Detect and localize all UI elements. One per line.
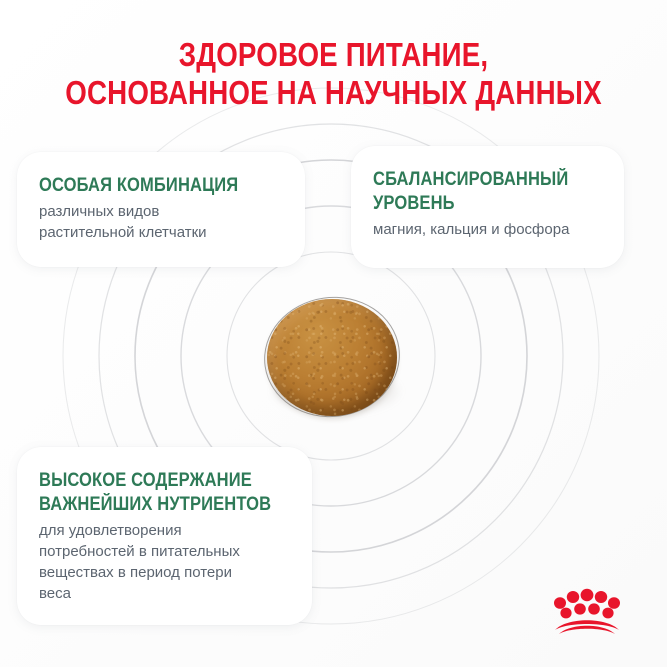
crown-dot-top-1	[554, 597, 566, 609]
card-heading-line-2: ВАЖНЕЙШИХ НУТРИЕНТОВ	[39, 493, 257, 517]
kibble-image	[262, 294, 402, 420]
card-body: для удовлетворения потребностей в питате…	[39, 520, 290, 604]
kibble-disc	[267, 299, 397, 416]
crown-dot-top-5	[608, 597, 620, 609]
card-heading-line-1: ВЫСОКОЕ СОДЕРЖАНИЕ	[39, 469, 257, 493]
crown-arc-inner	[559, 626, 615, 634]
crown-dot-bottom-3	[588, 603, 600, 614]
info-card-balanced-level: СБАЛАНСИРОВАННЫЙ УРОВЕНЬ магния, кальция…	[351, 146, 624, 268]
card-body: различных видов растительной клетчатки	[39, 201, 283, 243]
crown-dot-top-3	[581, 589, 594, 601]
info-card-special-combination: ОСОБАЯ КОМБИНАЦИЯ различных видов растит…	[17, 152, 305, 267]
info-card-high-nutrient-content: ВЫСОКОЕ СОДЕРЖАНИЕ ВАЖНЕЙШИХ НУТРИЕНТОВ …	[17, 447, 312, 625]
infographic-canvas: ЗДОРОВОЕ ПИТАНИЕ, ОСНОВАННОЕ НА НАУЧНЫХ …	[0, 0, 667, 667]
kibble-texture	[267, 299, 397, 416]
crown-dot-top-2	[567, 591, 579, 603]
card-heading-line-2: УРОВЕНЬ	[373, 192, 574, 216]
card-heading-line-1: СБАЛАНСИРОВАННЫЙ	[373, 168, 574, 192]
page-title-line-1: ЗДОРОВОЕ ПИТАНИЕ,	[53, 36, 613, 74]
card-body: магния, кальция и фосфора	[373, 219, 604, 240]
crown-dot-bottom-4	[602, 608, 613, 619]
crown-dot-top-4	[595, 591, 607, 603]
crown-dot-bottom-1	[560, 608, 571, 619]
page-title-line-2: ОСНОВАННОЕ НА НАУЧНЫХ ДАННЫХ	[53, 74, 613, 112]
page-title: ЗДОРОВОЕ ПИТАНИЕ, ОСНОВАННОЕ НА НАУЧНЫХ …	[0, 36, 667, 112]
royal-canin-crown-icon	[551, 586, 623, 636]
crown-dot-bottom-2	[574, 603, 586, 614]
card-heading: ОСОБАЯ КОМБИНАЦИЯ	[39, 174, 251, 198]
